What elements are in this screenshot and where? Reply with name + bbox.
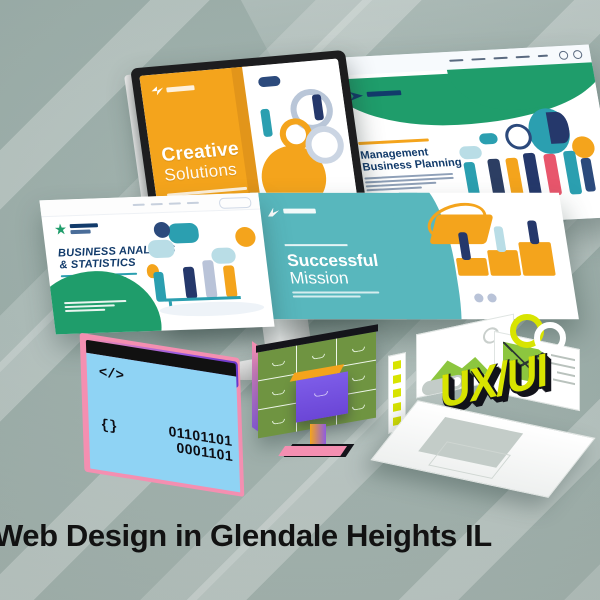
monitor-headline: Creative Solutions: [160, 139, 243, 185]
card-illustration: [139, 217, 270, 324]
code-window-body: </> {} 01101101 0001101: [86, 353, 240, 493]
search-pill[interactable]: [218, 197, 251, 209]
card-illustration: [419, 203, 574, 312]
drawer-handle[interactable]: [352, 376, 365, 382]
speech-bubble: [167, 223, 200, 244]
blob-text-lines: [64, 300, 128, 314]
card-title-line2: Mission: [288, 269, 349, 288]
card-topbar-dot: [572, 50, 583, 59]
person-figure: [261, 109, 274, 138]
wireframe-line: [557, 371, 575, 377]
title-rule: [285, 244, 348, 246]
person-figure: [505, 158, 524, 198]
speech-bubble: [147, 240, 175, 259]
page-title: Web Design in Glendale Heights IL: [0, 519, 492, 553]
drawer-handle[interactable]: [314, 391, 328, 397]
code-window[interactable]: </> {} 01101101 0001101: [86, 340, 240, 493]
step-block: [487, 250, 521, 276]
cabinet-base: [284, 444, 355, 457]
code-brace-icon: {}: [100, 417, 117, 436]
drawer-handle[interactable]: [272, 361, 285, 367]
person-figure: [463, 162, 480, 196]
drawer-handle[interactable]: [272, 419, 285, 425]
lightbulb-shape: [525, 107, 573, 154]
person-figure: [202, 260, 218, 298]
speech-bubble: [211, 247, 237, 264]
card-title-line1: Successful: [286, 251, 380, 270]
wireframe-line: [551, 362, 575, 369]
wireframe-line: [551, 354, 575, 361]
binary-text: 01101101 0001101: [168, 424, 233, 464]
person-figure: [543, 154, 562, 196]
drawer-handle[interactable]: [352, 405, 365, 411]
chart-bars: [258, 76, 281, 88]
business-analysis-logo: [54, 222, 99, 234]
code-tag-icon: </>: [99, 365, 125, 385]
card-title: Successful Mission: [286, 252, 383, 288]
person-figure: [183, 267, 198, 299]
drawer-handle[interactable]: [352, 347, 365, 353]
person-figure: [522, 153, 542, 197]
person-figure: [153, 272, 167, 302]
card-body-text: [292, 292, 380, 300]
person-figure: [493, 226, 506, 252]
mission-logo: [266, 207, 318, 218]
drawer-handle[interactable]: [272, 390, 285, 396]
card-business-analysis[interactable]: BUSINESS ANALYSIS & STATISTICS: [39, 193, 274, 335]
person-figure: [223, 265, 238, 297]
pagination-dots[interactable]: [473, 290, 502, 308]
card-title-line2: & STATISTICS: [59, 257, 137, 272]
card-topbar-dot: [558, 51, 569, 60]
speech-bubble: [478, 133, 498, 145]
speech-bubble: [458, 146, 482, 160]
uxui-laptop[interactable]: UX/UI: [388, 318, 586, 484]
step-block: [456, 258, 489, 276]
filing-cabinet[interactable]: [252, 332, 384, 452]
person-figure: [580, 158, 596, 192]
poster-canvas: Management Business Planning: [0, 0, 600, 600]
drawer-handle[interactable]: [312, 354, 325, 360]
wireframe-line: [553, 378, 575, 385]
floor-ellipse: [159, 300, 265, 318]
gear-icon: [234, 227, 257, 248]
card-successful-mission[interactable]: Successful Mission: [250, 193, 579, 319]
step-block: [518, 242, 556, 276]
person-figure: [527, 220, 540, 244]
